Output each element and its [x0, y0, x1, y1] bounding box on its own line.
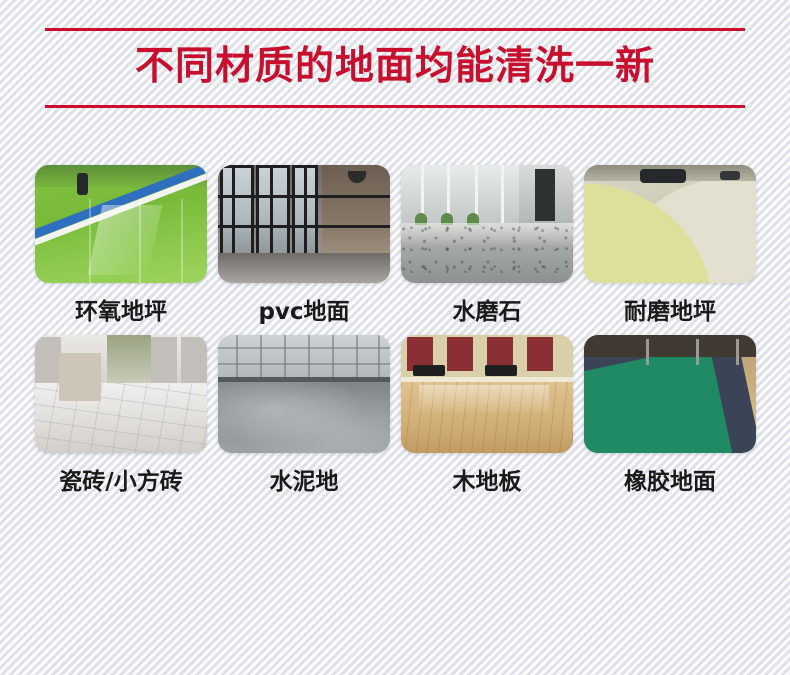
floor-type-card-wood[interactable]: 木地板: [401, 335, 573, 497]
floor-type-label: 水泥地: [270, 467, 339, 497]
floor-type-label: 橡胶地面: [624, 467, 716, 497]
floor-type-label: 水磨石: [453, 297, 522, 327]
wear-resistant-floor-photo: [584, 165, 756, 283]
terrazzo-floor-photo: [401, 165, 573, 283]
floor-type-label: 瓷砖/小方砖: [59, 467, 182, 497]
header-bottom-divider: [45, 105, 745, 108]
grid-row: 瓷砖/小方砖 水泥地: [35, 335, 757, 497]
page-title: 不同材质的地面均能清洗一新: [0, 36, 790, 98]
header-top-divider: [45, 28, 745, 31]
grid-row: 环氧地坪 pvc地面: [35, 165, 757, 327]
rubber-floor-photo: [584, 335, 756, 453]
page-header: 不同材质的地面均能清洗一新: [0, 0, 790, 125]
floor-type-card-wear-resistant[interactable]: 耐磨地坪: [584, 165, 756, 327]
floor-type-card-cement[interactable]: 水泥地: [218, 335, 390, 497]
wood-floor-photo: [401, 335, 573, 453]
floor-type-card-terrazzo[interactable]: 水磨石: [401, 165, 573, 327]
floor-type-grid: 环氧地坪 pvc地面: [35, 165, 757, 505]
floor-type-card-pvc[interactable]: pvc地面: [218, 165, 390, 327]
floor-type-label: 木地板: [453, 467, 522, 497]
pvc-corridor-photo: [218, 165, 390, 283]
floor-type-card-ceramic-tile[interactable]: 瓷砖/小方砖: [35, 335, 207, 497]
floor-type-label: 耐磨地坪: [624, 297, 716, 327]
floor-type-card-rubber[interactable]: 橡胶地面: [584, 335, 756, 497]
epoxy-floor-photo: [35, 165, 207, 283]
ceramic-tile-floor-photo: [35, 335, 207, 453]
floor-type-label: 环氧地坪: [75, 297, 167, 327]
cement-floor-photo: [218, 335, 390, 453]
floor-type-card-epoxy[interactable]: 环氧地坪: [35, 165, 207, 327]
floor-type-label: pvc地面: [258, 297, 349, 327]
